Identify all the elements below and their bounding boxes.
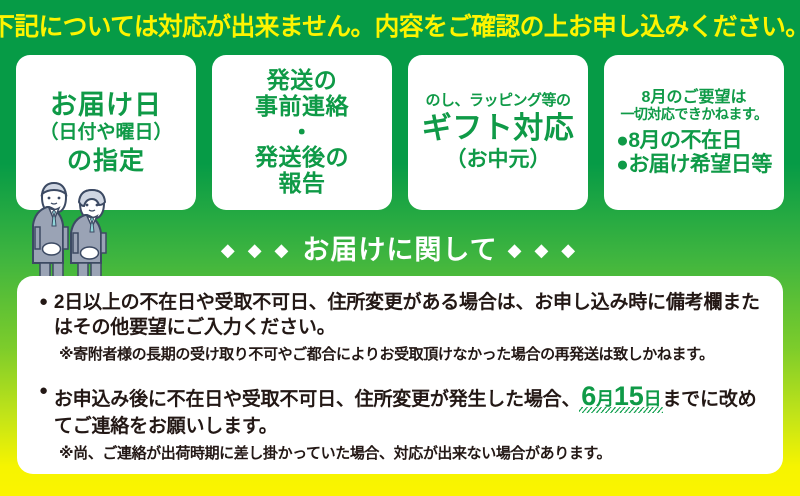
- deadline-day-number: 15: [614, 381, 644, 411]
- card-4-bullet-2: ●お届け希望日等: [616, 153, 772, 177]
- header-title: 下記については対応が出来ません。内容をご確認の上お申し込みください。: [0, 7, 800, 43]
- card-shipping-notification: 発送の 事前連絡 ・ 発送後の 報告: [212, 55, 392, 210]
- restriction-cards-row: お届け日 （日付や曜日） の指定 発送の 事前連絡 ・ 発送後の 報告 のし、ラ…: [16, 55, 784, 210]
- delivery-notice-panel: ● 2日以上の不在日や受取不可日、住所変更がある場合は、お申し込み時に備考欄また…: [17, 276, 783, 474]
- card-2-line-5: 報告: [279, 171, 326, 197]
- bullet-icon: ●: [39, 290, 48, 313]
- card-august-requests: 8月のご要望は 一切対応できかねます。 ●8月の不在日 ●お届け希望日等: [604, 55, 784, 210]
- card-1-line-2: （日付や曜日）: [39, 122, 172, 143]
- deadline-month-unit: 月: [596, 389, 614, 409]
- card-3-line-1: のし、ラッピング等の: [425, 93, 570, 110]
- deadline-month-number: 6: [581, 381, 596, 411]
- notice-2-text-wrap: お申込み後に不在日や受取不可日、住所変更が発生した場合、6月15日までに改めてご…: [54, 379, 763, 440]
- deadline-date-highlight: 6月15日: [580, 383, 662, 411]
- notice-2-main: ● お申込み後に不在日や受取不可日、住所変更が発生した場合、6月15日までに改め…: [39, 379, 763, 440]
- card-4-bullet-1: ●8月の不在日: [616, 129, 772, 153]
- promotional-notice-banner: 下記については対応が出来ません。内容をご確認の上お申し込みください。 お届け日 …: [0, 0, 800, 496]
- diamond-right-icon: ◆ ◆ ◆: [508, 240, 580, 260]
- section-title-text: お届けに関して: [302, 235, 497, 265]
- header-banner: 下記については対応が出来ません。内容をご確認の上お申し込みください。: [0, 0, 800, 50]
- deadline-day-unit: 日: [644, 389, 662, 409]
- notice-1-text: 2日以上の不在日や受取不可日、住所変更がある場合は、お申し込み時に備考欄またはそ…: [54, 290, 763, 340]
- notice-2-note: ※尚、ご連絡が出荷時期に差し掛かっていた場合、対応が出来ない場合があります。: [59, 444, 763, 464]
- notice-2-text-before: お申込み後に不在日や受取不可日、住所変更が発生した場合、: [54, 389, 580, 410]
- card-4-bullet-list: ●8月の不在日 ●お届け希望日等: [616, 129, 772, 176]
- bullet-icon: ●: [39, 379, 48, 402]
- card-2-line-1: 発送の: [267, 68, 338, 94]
- card-2-line-4: 発送後の: [255, 145, 349, 171]
- notice-1-note: ※寄附者様の長期の受け取り不可やご都合によりお受取頂けなかった場合の再発送は致し…: [59, 345, 763, 365]
- card-2-line-3: ・: [290, 120, 314, 146]
- section-title-delivery: ◆ ◆ ◆お届けに関して◆ ◆ ◆: [0, 228, 800, 267]
- diamond-left-icon: ◆ ◆ ◆: [221, 240, 293, 260]
- card-3-line-2: ギフト対応: [422, 112, 575, 146]
- card-1-line-1: お届け日: [50, 90, 162, 120]
- card-3-line-3: （お中元）: [446, 148, 551, 172]
- notice-1-main: ● 2日以上の不在日や受取不可日、住所変更がある場合は、お申し込み時に備考欄また…: [39, 290, 763, 340]
- card-4-line-2: 一切対応できかねます。: [620, 107, 767, 123]
- card-gift-wrapping: のし、ラッピング等の ギフト対応 （お中元）: [408, 55, 588, 210]
- card-4-line-1: 8月のご要望は: [642, 89, 747, 107]
- notice-item-2: ● お申込み後に不在日や受取不可日、住所変更が発生した場合、6月15日までに改め…: [39, 379, 763, 464]
- card-2-line-2: 事前連絡: [255, 94, 349, 120]
- notice-item-1: ● 2日以上の不在日や受取不可日、住所変更がある場合は、お申し込み時に備考欄また…: [39, 290, 763, 365]
